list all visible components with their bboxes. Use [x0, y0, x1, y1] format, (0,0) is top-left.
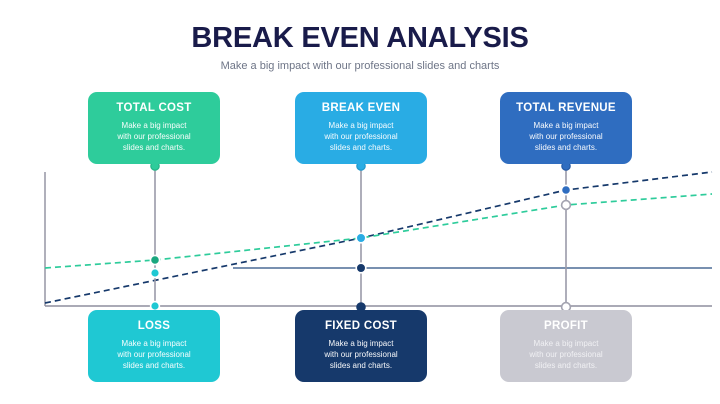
card-body-line-2: with our professional	[303, 131, 419, 142]
card-fixed-cost-title: FIXED COST	[303, 319, 419, 333]
card-body-line-2: with our professional	[303, 349, 419, 360]
card-loss-title: LOSS	[96, 319, 212, 333]
card-body-line-3: slides and charts.	[508, 360, 624, 371]
card-body-line-1: Make a big impact	[96, 120, 212, 131]
total-cost-line	[45, 194, 712, 268]
card-loss[interactable]: LOSS Make a big impact with our professi…	[88, 310, 220, 382]
card-break-even-body: Make a big impact with our professional …	[303, 120, 419, 153]
revenue-curve-point-left-marker	[151, 269, 160, 278]
total-cost-curve-point-marker	[150, 255, 159, 264]
card-body-line-1: Make a big impact	[508, 338, 624, 349]
card-body-line-2: with our professional	[508, 131, 624, 142]
card-body-line-3: slides and charts.	[303, 142, 419, 153]
card-body-line-2: with our professional	[96, 349, 212, 360]
revenue-curve-point-right-marker	[561, 185, 570, 194]
card-total-revenue-title: TOTAL REVENUE	[508, 101, 624, 115]
card-total-revenue[interactable]: TOTAL REVENUE Make a big impact with our…	[500, 92, 632, 164]
card-fixed-cost[interactable]: FIXED COST Make a big impact with our pr…	[295, 310, 427, 382]
card-body-line-2: with our professional	[508, 349, 624, 360]
card-total-revenue-body: Make a big impact with our professional …	[508, 120, 624, 153]
card-break-even[interactable]: BREAK EVEN Make a big impact with our pr…	[295, 92, 427, 164]
card-body-line-3: slides and charts.	[96, 142, 212, 153]
card-body-line-1: Make a big impact	[96, 338, 212, 349]
card-body-line-1: Make a big impact	[303, 120, 419, 131]
total-revenue-line	[45, 172, 712, 303]
card-break-even-title: BREAK EVEN	[303, 101, 419, 115]
card-body-line-1: Make a big impact	[508, 120, 624, 131]
fixed-cost-line-point-marker	[356, 263, 366, 273]
card-profit[interactable]: PROFIT Make a big impact with our profes…	[500, 310, 632, 382]
card-body-line-3: slides and charts.	[508, 142, 624, 153]
card-body-line-3: slides and charts.	[96, 360, 212, 371]
card-profit-body: Make a big impact with our professional …	[508, 338, 624, 371]
card-profit-title: PROFIT	[508, 319, 624, 333]
card-loss-body: Make a big impact with our professional …	[96, 338, 212, 371]
card-body-line-1: Make a big impact	[303, 338, 419, 349]
card-body-line-3: slides and charts.	[303, 360, 419, 371]
card-fixed-cost-body: Make a big impact with our professional …	[303, 338, 419, 371]
cost-curve-point-right-marker	[562, 201, 571, 210]
card-body-line-2: with our professional	[96, 131, 212, 142]
card-total-cost-body: Make a big impact with our professional …	[96, 120, 212, 153]
card-total-cost[interactable]: TOTAL COST Make a big impact with our pr…	[88, 92, 220, 164]
break-even-point-marker	[356, 233, 366, 243]
break-even-analysis-slide: BREAK EVEN ANALYSIS Make a big impact wi…	[0, 0, 720, 404]
card-total-cost-title: TOTAL COST	[96, 101, 212, 115]
